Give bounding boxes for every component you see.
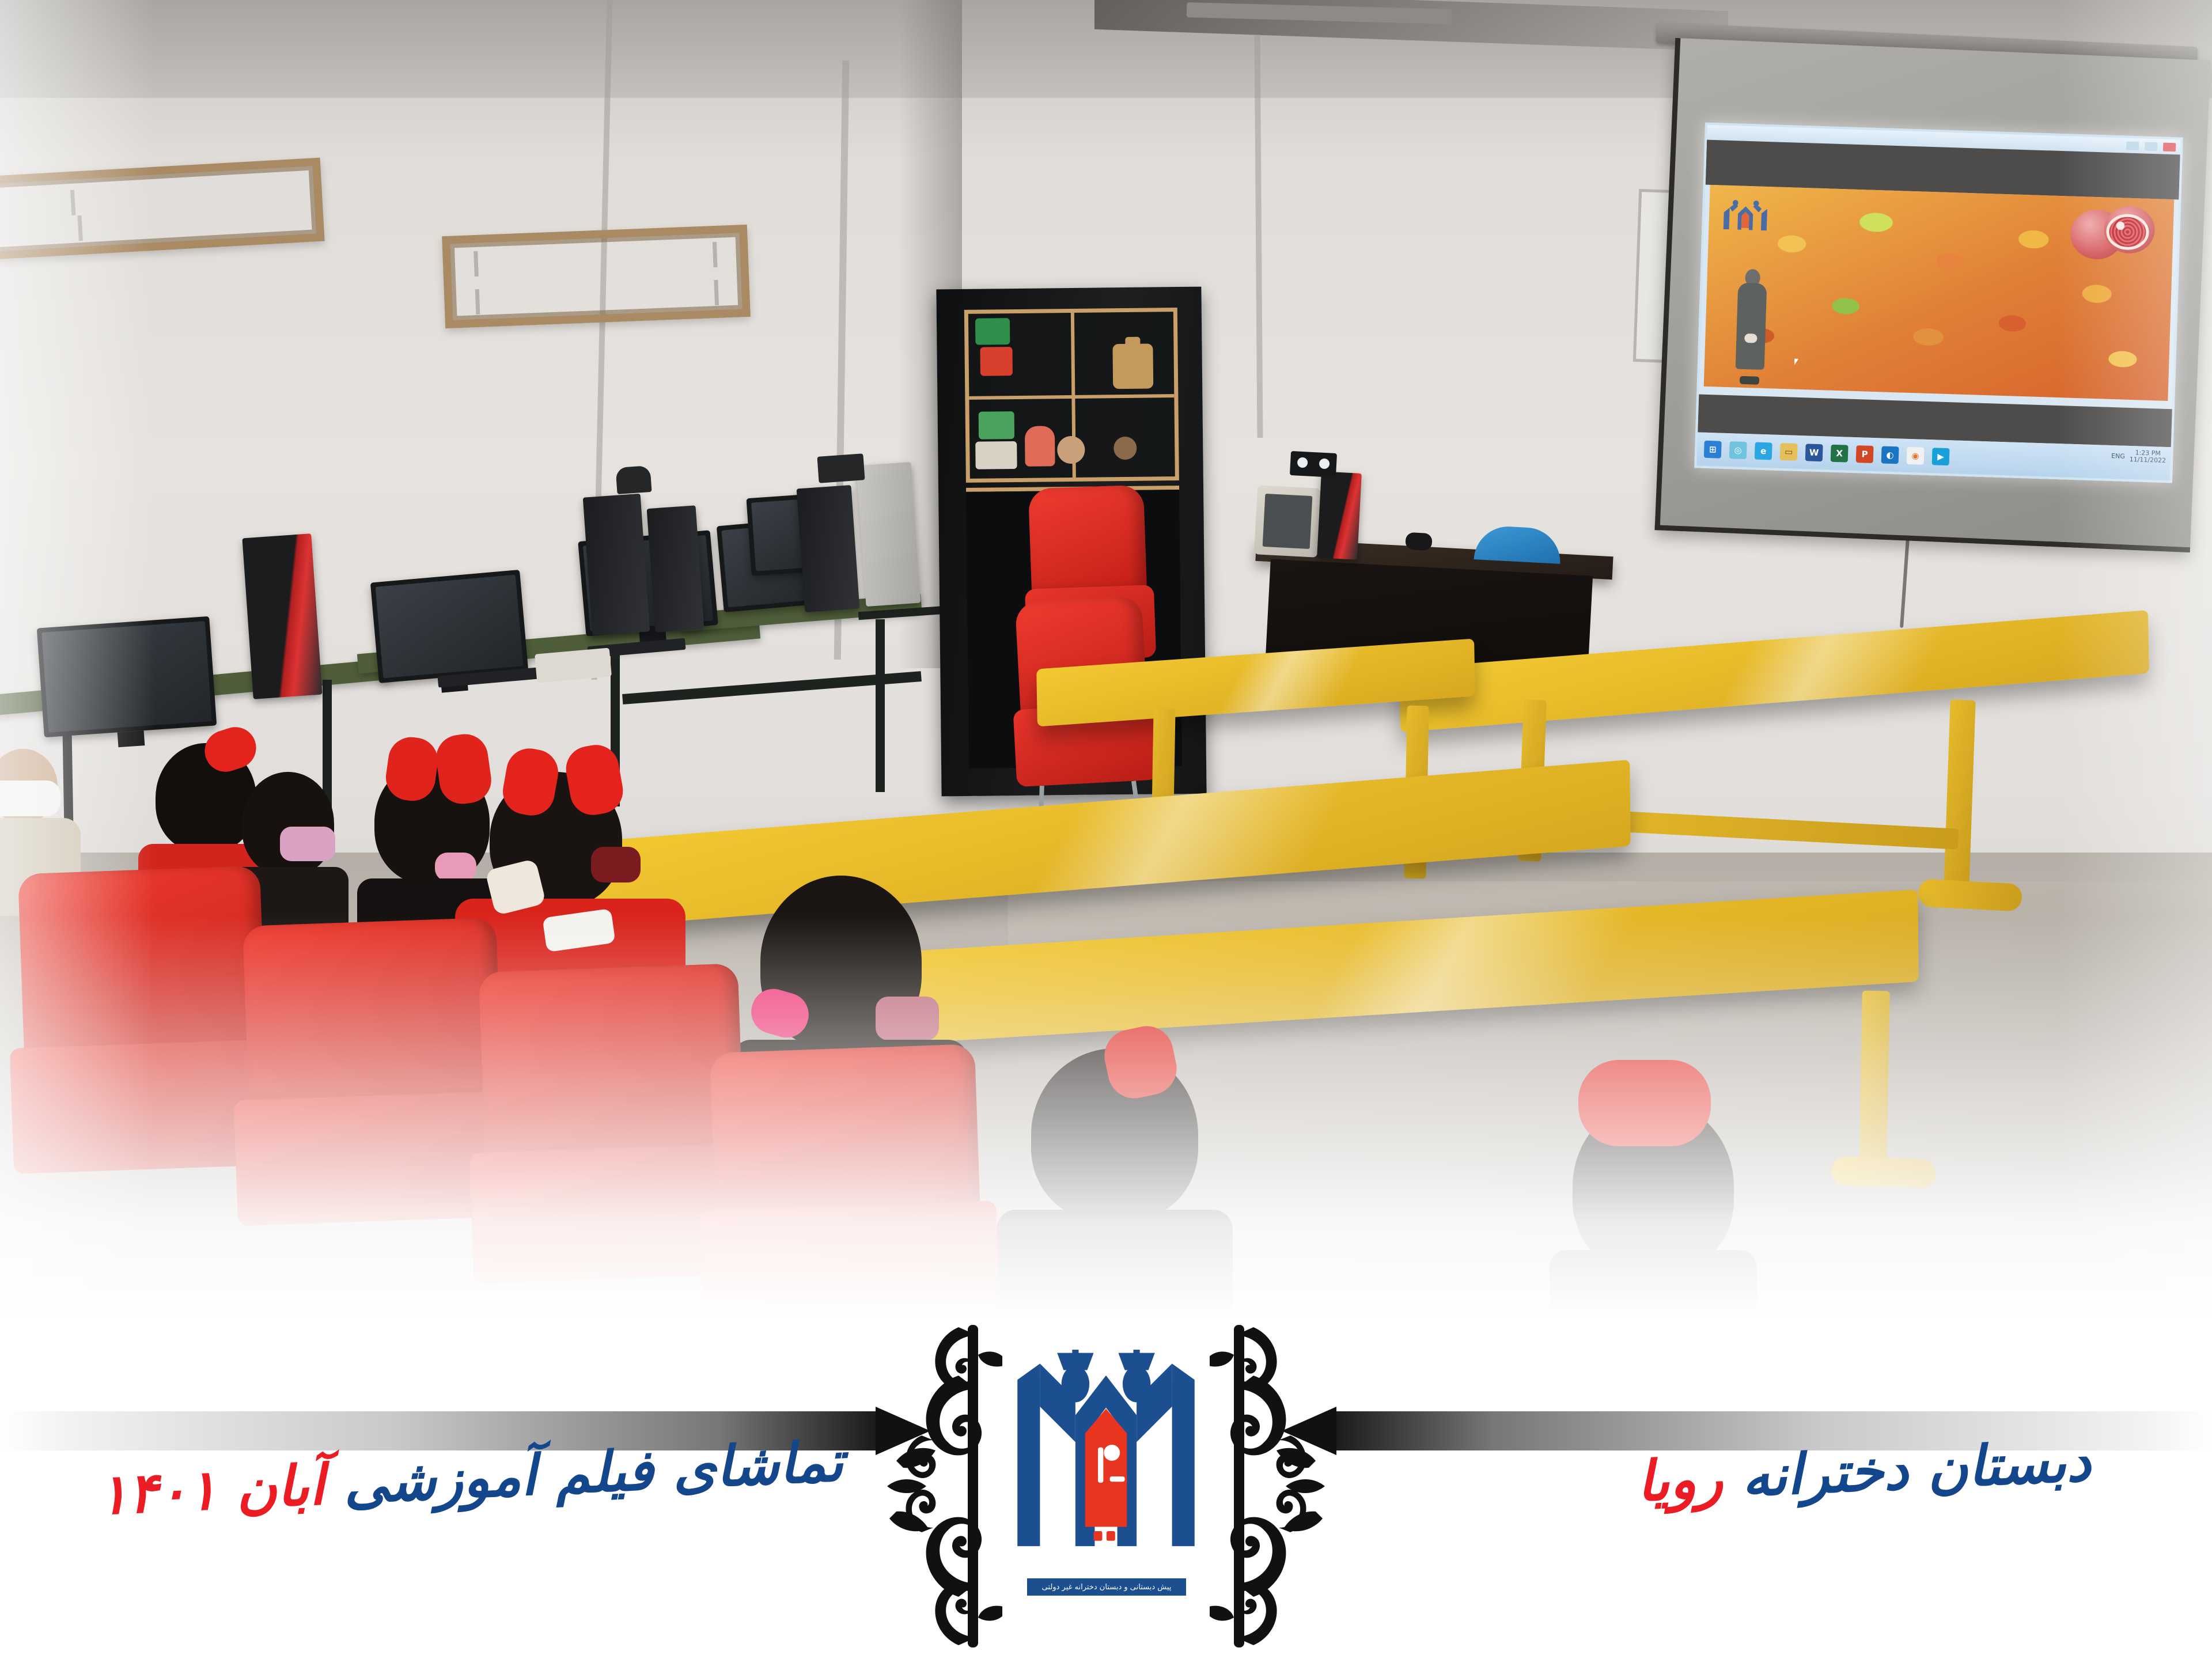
logo-banner-text: پیش دبستانی و دبستان دخترانه غیر دولتی <box>1042 1583 1172 1592</box>
logo-banner: پیش دبستانی و دبستان دخترانه غیر دولتی <box>1027 1578 1186 1596</box>
logo-mark <box>1005 1342 1207 1578</box>
ornament-flourish-left <box>887 1325 1002 1647</box>
event-photo-card: ⊞ ◎ e ▭ W X P ◐ ◉ ▶ ENG 1:23 PM 11/11/20… <box>0 0 2212 1659</box>
roya-school-logo: پیش دبستانی و دبستان دخترانه غیر دولتی <box>1005 1342 1207 1596</box>
ornament-flourish-right <box>1210 1325 1325 1647</box>
caption-right-red: رویا <box>1635 1446 1724 1514</box>
caption-left-red: آبان ۱۴۰۱ <box>97 1453 325 1528</box>
photo-side-fade <box>0 0 2212 1319</box>
classroom-photo: ⊞ ◎ e ▭ W X P ◐ ◉ ▶ ENG 1:23 PM 11/11/20… <box>0 0 2212 1319</box>
